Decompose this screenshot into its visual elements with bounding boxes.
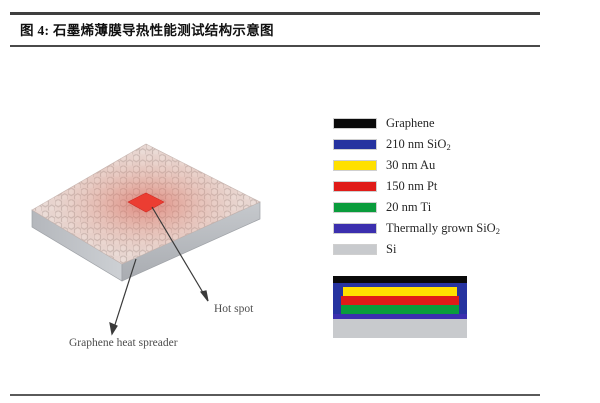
legend-label-thermal-sio2-text: Thermally grown SiO [386,221,496,235]
heat-spreader-svg [16,98,316,358]
legend-label-sio2-210nm-subscript: 2 [446,142,450,152]
figure-bottom-rule [10,394,540,396]
caption-bottom-rule [10,45,540,47]
legend-item-si: Si [333,239,533,260]
graphene-heat-spreader-label: Graphene heat spreader [69,337,178,349]
legend-label-sio2-210nm: 210 nm SiO2 [386,137,451,152]
layer-stack-cross-section [333,276,475,340]
legend-item-pt-150nm: 150 nm Pt [333,176,533,197]
legend-label-sio2-210nm-text: 210 nm SiO [386,137,446,151]
legend-label-graphene: Graphene [386,116,435,131]
stack-layer-graphene [333,276,467,283]
legend-swatch-sio2-210nm [333,139,377,150]
stack-layer-thermal-sio2 [333,314,467,319]
caption-row: 图 4: 石墨烯薄膜导热性能测试结构示意图 [10,15,540,45]
legend-item-sio2-210nm: 210 nm SiO2 [333,134,533,155]
stack-layer-pt-150nm [341,296,459,305]
layer-stack-svg [333,276,475,340]
legend-swatch-thermal-sio2 [333,223,377,234]
figure-body: Hot spot Graphene heat spreader Graphene… [0,60,600,360]
figure-caption-block: 图 4: 石墨烯薄膜导热性能测试结构示意图 [10,12,540,47]
legend-label-ti-20nm-text: 20 nm Ti [386,200,431,214]
legend-swatch-si [333,244,377,255]
legend-label-thermal-sio2: Thermally grown SiO2 [386,221,500,236]
legend-label-si-text: Si [386,242,396,256]
legend-item-ti-20nm: 20 nm Ti [333,197,533,218]
legend-label-ti-20nm: 20 nm Ti [386,200,431,215]
legend-label-au-30nm: 30 nm Au [386,158,435,173]
hot-spot-label: Hot spot [214,303,253,315]
stack-layer-au-30nm [343,287,457,296]
legend-label-au-30nm-text: 30 nm Au [386,158,435,172]
legend-swatch-au-30nm [333,160,377,171]
figure-caption-text: 图 4: 石墨烯薄膜导热性能测试结构示意图 [20,23,274,38]
legend-label-si: Si [386,242,396,257]
stack-layer-ti-20nm [341,305,459,314]
legend-label-pt-150nm: 150 nm Pt [386,179,437,194]
legend-item-graphene: Graphene [333,113,533,134]
legend-swatch-graphene [333,118,377,129]
graphene-heat-spreader-illustration: Hot spot Graphene heat spreader [16,98,316,358]
legend-label-pt-150nm-text: 150 nm Pt [386,179,437,193]
legend-label-thermal-sio2-subscript: 2 [496,226,500,236]
legend-item-thermal-sio2: Thermally grown SiO2 [333,218,533,239]
legend-swatch-pt-150nm [333,181,377,192]
legend-label-graphene-text: Graphene [386,116,435,130]
legend-item-au-30nm: 30 nm Au [333,155,533,176]
stack-layer-si-substrate [333,319,467,338]
legend-swatch-ti-20nm [333,202,377,213]
materials-legend: Graphene 210 nm SiO2 30 nm Au 150 nm Pt … [333,113,533,260]
